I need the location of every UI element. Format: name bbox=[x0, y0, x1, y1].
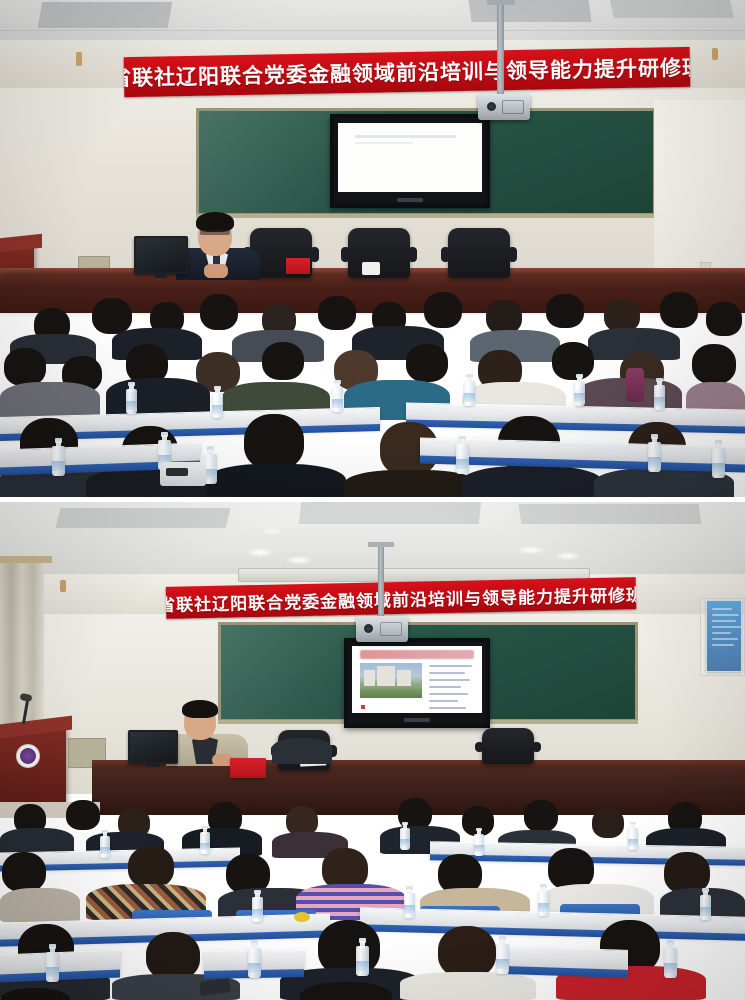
audience-head bbox=[318, 296, 356, 330]
projector-icon bbox=[478, 94, 530, 120]
screen-brand-logo bbox=[404, 718, 430, 722]
laptop-stand bbox=[146, 762, 160, 767]
audience-head bbox=[262, 342, 304, 380]
monitor-top bbox=[134, 236, 188, 274]
audience-head bbox=[438, 926, 496, 978]
wall-hook-icon bbox=[60, 580, 66, 592]
banner-text: 省联社辽阳联合党委金融领域前沿培训与领导能力提升研修班 bbox=[166, 580, 637, 615]
top-photo-panel: 省联社辽阳联合党委金融领域前沿培训与领导能力提升研修班 bbox=[0, 0, 745, 497]
ceiling-light bbox=[246, 548, 274, 557]
audience-head bbox=[592, 808, 624, 838]
water-bottle bbox=[574, 374, 585, 406]
podium-emblem bbox=[16, 744, 40, 768]
audience-head bbox=[552, 342, 594, 380]
curtain-rail bbox=[0, 556, 52, 563]
audience-shoulders bbox=[206, 464, 346, 497]
screen-content-slide bbox=[352, 646, 482, 713]
ceiling-panel bbox=[56, 508, 231, 528]
water-bottle bbox=[100, 830, 110, 858]
water-bottle bbox=[52, 438, 65, 476]
audience-head bbox=[424, 292, 462, 328]
audience-head bbox=[92, 298, 132, 334]
audience-head bbox=[524, 800, 558, 832]
audience-head bbox=[406, 344, 448, 382]
water-bottle bbox=[400, 822, 410, 850]
screen-brand-logo bbox=[397, 198, 423, 202]
projector-ceiling-mount bbox=[487, 0, 515, 5]
laptop-screen bbox=[128, 730, 178, 764]
slide-bullet-text bbox=[429, 665, 476, 695]
speaker-hair bbox=[182, 700, 218, 718]
audience-shoulders bbox=[0, 888, 80, 922]
thermos-bottle bbox=[626, 368, 644, 402]
audience-head bbox=[486, 300, 522, 334]
window-curtain bbox=[0, 560, 44, 735]
audience-shoulders bbox=[462, 466, 602, 497]
water-bottle bbox=[700, 888, 711, 920]
water-bottle bbox=[654, 378, 665, 410]
audience-head bbox=[4, 348, 46, 386]
audience-head bbox=[200, 294, 238, 330]
ceiling-light bbox=[262, 528, 282, 535]
audience-head bbox=[706, 302, 742, 336]
audience-shoulders bbox=[400, 972, 536, 1000]
audience-bottom bbox=[0, 792, 745, 1000]
water-bottle bbox=[248, 940, 261, 978]
ceiling-panel bbox=[38, 2, 173, 28]
audience-head bbox=[128, 846, 174, 888]
audience-head bbox=[146, 932, 200, 980]
audience-head bbox=[300, 982, 392, 1000]
water-bottle bbox=[712, 440, 725, 478]
water-bottle bbox=[464, 374, 475, 406]
projector-pole bbox=[497, 0, 504, 96]
yellow-fruit bbox=[294, 912, 310, 922]
wall-hook-icon bbox=[712, 48, 718, 60]
water-bottle bbox=[126, 382, 137, 414]
screen-content-blank bbox=[338, 123, 482, 192]
water-bottle bbox=[456, 436, 469, 474]
glasses-icon bbox=[200, 230, 230, 235]
bottom-photo-panel: 省联社辽阳联合党委金融领域前沿培训与领导能力提升研修班 bbox=[0, 502, 745, 1000]
banner-text: 省联社辽阳联合党委金融领域前沿培训与领导能力提升研修班 bbox=[124, 52, 691, 93]
water-bottle bbox=[332, 380, 343, 412]
speaker-hair bbox=[196, 212, 234, 232]
water-bottle bbox=[474, 828, 484, 856]
audience-head bbox=[66, 800, 100, 830]
projection-screen-bottom bbox=[344, 638, 490, 728]
audience-head bbox=[546, 294, 584, 328]
water-bottle bbox=[538, 884, 549, 916]
water-bottle bbox=[200, 826, 210, 854]
water-bottle bbox=[496, 936, 509, 974]
water-bottle bbox=[46, 944, 59, 982]
ceiling-panel bbox=[299, 502, 481, 524]
audience-top bbox=[0, 286, 745, 497]
ceiling-light bbox=[518, 546, 544, 554]
projector-ceiling-mount bbox=[368, 542, 394, 547]
water-bottle bbox=[628, 822, 638, 850]
nameplate-bottom bbox=[230, 758, 266, 778]
poster-frame bbox=[700, 598, 745, 676]
water-bottle bbox=[356, 938, 369, 976]
ceiling-panel bbox=[519, 504, 702, 524]
nameplate-top bbox=[286, 258, 310, 274]
audience-head bbox=[244, 414, 304, 470]
ceiling-light bbox=[286, 556, 312, 564]
audience-head bbox=[2, 852, 46, 892]
photo-collage: 省联社辽阳联合党委金融领域前沿培训与领导能力提升研修班 bbox=[0, 0, 745, 1000]
ceiling-light bbox=[556, 552, 580, 560]
audience-shoulders bbox=[344, 470, 478, 497]
wall-hook-icon bbox=[76, 52, 82, 66]
audience-head bbox=[660, 292, 698, 328]
staff-shoulders bbox=[272, 738, 332, 764]
paper-cup bbox=[362, 262, 380, 275]
projector-pole bbox=[378, 546, 384, 620]
projector-icon bbox=[356, 616, 408, 642]
slide-title-text bbox=[360, 650, 474, 659]
slide-building-photo bbox=[360, 663, 422, 698]
audience-head bbox=[692, 344, 736, 384]
water-bottle bbox=[252, 890, 263, 922]
monitor-stand bbox=[155, 272, 167, 278]
water-bottle bbox=[404, 886, 415, 918]
ceiling-panel bbox=[610, 0, 734, 18]
speaker-hands bbox=[204, 264, 228, 278]
water-bottle bbox=[648, 434, 661, 472]
empty-chair bbox=[448, 228, 510, 278]
empty-chair bbox=[482, 728, 534, 764]
projection-screen-top bbox=[330, 114, 490, 208]
chalk-tray bbox=[196, 214, 656, 218]
water-bottle bbox=[664, 940, 677, 978]
water-bottle bbox=[212, 386, 223, 418]
desk-device bbox=[160, 462, 206, 486]
